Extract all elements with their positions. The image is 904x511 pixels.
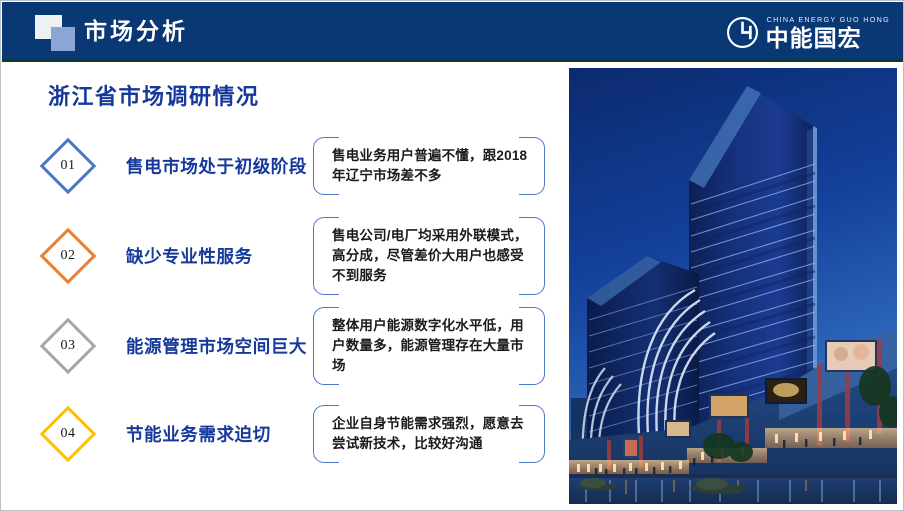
page-title: 市场分析 (84, 14, 188, 48)
header-underline (2, 59, 904, 62)
item-label: 节能业务需求迫切 (126, 422, 271, 447)
item-number: 03 (40, 336, 96, 356)
building-photo (569, 68, 897, 504)
item-number: 01 (40, 156, 96, 176)
item-note-callout: 企业自身节能需求强烈，愿意去尝试新技术，比较好沟通 (313, 405, 545, 463)
item-note-text: 售电公司/电厂均采用外联模式，高分成，尽管差价大用户也感受不到服务 (332, 228, 528, 283)
bracket-left-icon (313, 137, 339, 195)
slide-header: 市场分析 CHINA ENERGY GUO HONG 中能国宏 (2, 2, 904, 59)
power-button-logo-icon (726, 16, 759, 49)
bracket-right-icon (519, 137, 545, 195)
list-item: 01 售电市场处于初级阶段 售电业务用户普遍不懂，跟2018年辽宁市场差不多 (1, 121, 561, 211)
item-note-text: 企业自身节能需求强烈，愿意去尝试新技术，比较好沟通 (332, 416, 524, 451)
bracket-right-icon (519, 405, 545, 463)
item-number: 04 (40, 424, 96, 444)
header-squares-decoration (35, 15, 79, 51)
logo-english-name: CHINA ENERGY GUO HONG (767, 16, 890, 23)
item-label: 售电市场处于初级阶段 (126, 154, 307, 179)
list-item: 02 缺少专业性服务 售电公司/电厂均采用外联模式，高分成，尽管差价大用户也感受… (1, 211, 561, 301)
slide: 市场分析 CHINA ENERGY GUO HONG 中能国宏 浙江省市场调研情… (0, 0, 904, 511)
company-logo: CHINA ENERGY GUO HONG 中能国宏 (726, 12, 890, 52)
item-note-text: 售电业务用户普遍不懂，跟2018年辽宁市场差不多 (332, 148, 527, 183)
item-note-callout: 整体用户能源数字化水平低，用户数量多，能源管理存在大量市场 (313, 307, 545, 385)
logo-chinese-name: 中能国宏 (766, 26, 890, 50)
list-item: 04 节能业务需求迫切 企业自身节能需求强烈，愿意去尝试新技术，比较好沟通 (1, 391, 561, 477)
item-note-text: 整体用户能源数字化水平低，用户数量多，能源管理存在大量市场 (332, 318, 524, 373)
analysis-list: 01 售电市场处于初级阶段 售电业务用户普遍不懂，跟2018年辽宁市场差不多 0… (1, 121, 561, 477)
item-label: 缺少专业性服务 (126, 244, 253, 269)
item-number: 02 (40, 246, 96, 266)
item-note-callout: 售电业务用户普遍不懂，跟2018年辽宁市场差不多 (313, 137, 545, 195)
square-blue-icon (51, 27, 75, 51)
section-title: 浙江省市场调研情况 (48, 79, 260, 111)
item-label: 能源管理市场空间巨大 (126, 334, 307, 359)
item-note-callout: 售电公司/电厂均采用外联模式，高分成，尽管差价大用户也感受不到服务 (313, 217, 545, 295)
logo-text-block: CHINA ENERGY GUO HONG 中能国宏 (766, 14, 890, 49)
bracket-left-icon (313, 405, 339, 463)
list-item: 03 能源管理市场空间巨大 整体用户能源数字化水平低，用户数量多，能源管理存在大… (1, 301, 561, 391)
